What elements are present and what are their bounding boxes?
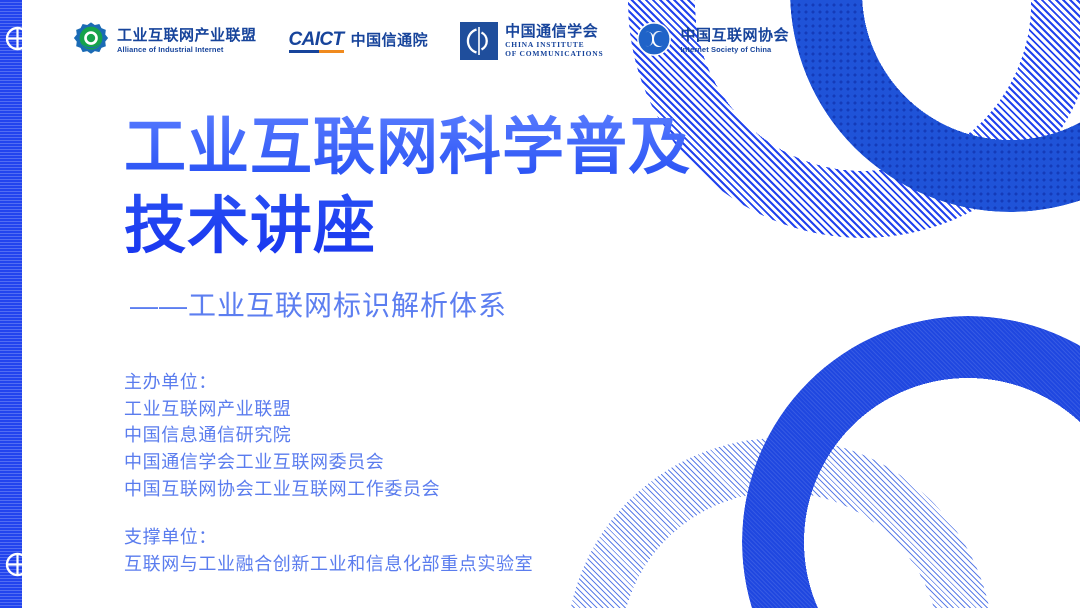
logo-cic-cn: 中国通信学会 xyxy=(505,24,603,41)
gear-leaf-icon xyxy=(72,20,110,63)
sponsor-logo-bar: 工业互联网产业联盟 Alliance of Industrial Interne… xyxy=(72,18,789,64)
left-accent-bar xyxy=(0,0,22,608)
logo-aii-text: 工业互联网产业联盟 Alliance of Industrial Interne… xyxy=(117,28,257,54)
title-block: 工业互联网科学普及 技术讲座 ——工业互联网标识解析体系 xyxy=(124,108,691,322)
supporters-heading: 支撑单位： xyxy=(124,524,533,551)
caict-underline-rule xyxy=(289,50,344,53)
supporters-group: 支撑单位： 互联网与工业融合创新工业和信息化部重点实验室 xyxy=(124,524,533,577)
logo-aii-cn: 工业互联网产业联盟 xyxy=(117,28,257,45)
organizer-item: 中国互联网协会工业互联网工作委员会 xyxy=(124,476,533,503)
cic-badge-icon xyxy=(460,22,498,60)
bottom-right-light-ring-decoration xyxy=(566,438,994,608)
logo-caict-cn: 中国信通院 xyxy=(351,33,429,50)
organizers-group: 主办单位： 工业互联网产业联盟 中国信息通信研究院 中国通信学会工业互联网委员会… xyxy=(124,369,533,502)
crosshair-circle-icon-top xyxy=(4,25,31,52)
credits-block: 主办单位： 工业互联网产业联盟 中国信息通信研究院 中国通信学会工业互联网委员会… xyxy=(124,369,533,577)
logo-aii-en: Alliance of Industrial Internet xyxy=(117,45,257,54)
logo-caict: CAICT 中国信通院 xyxy=(289,20,429,62)
logo-internet-society-of-china: 中国互联网协会 Internet Society of China xyxy=(635,20,789,62)
logo-isc-en: Internet Society of China xyxy=(680,45,789,54)
logo-isc-text: 中国互联网协会 Internet Society of China xyxy=(680,28,789,54)
logo-cic-en-line1: CHINA INSTITUTE xyxy=(505,40,603,49)
organizer-item: 中国通信学会工业互联网委员会 xyxy=(124,449,533,476)
caict-wordmark-icon: CAICT xyxy=(289,30,344,53)
crosshair-circle-icon-bottom xyxy=(4,551,31,578)
supporter-item: 互联网与工业融合创新工业和信息化部重点实验室 xyxy=(124,551,533,578)
logo-alliance-of-industrial-internet: 工业互联网产业联盟 Alliance of Industrial Interne… xyxy=(72,20,257,62)
organizer-item: 中国信息通信研究院 xyxy=(124,422,533,449)
logo-caict-acronym: CAICT xyxy=(289,30,344,49)
logo-cic-en-line2: OF COMMUNICATIONS xyxy=(505,49,603,58)
organizer-item: 工业互联网产业联盟 xyxy=(124,396,533,423)
sub-title: ——工业互联网标识解析体系 xyxy=(130,289,691,323)
logo-cic-text: 中国通信学会 CHINA INSTITUTE OF COMMUNICATIONS xyxy=(505,24,603,59)
top-right-dotted-ring-decoration xyxy=(790,0,1080,212)
logo-china-institute-of-communications: 中国通信学会 CHINA INSTITUTE OF COMMUNICATIONS xyxy=(460,20,603,62)
main-title: 工业互联网科学普及 技术讲座 xyxy=(124,108,691,267)
organizers-heading: 主办单位： xyxy=(124,369,533,396)
logo-isc-cn: 中国互联网协会 xyxy=(680,28,789,45)
presentation-slide: 工业互联网产业联盟 Alliance of Industrial Interne… xyxy=(0,0,1080,608)
swirl-circle-icon xyxy=(635,20,673,63)
bottom-right-solid-ring-decoration xyxy=(742,316,1080,608)
